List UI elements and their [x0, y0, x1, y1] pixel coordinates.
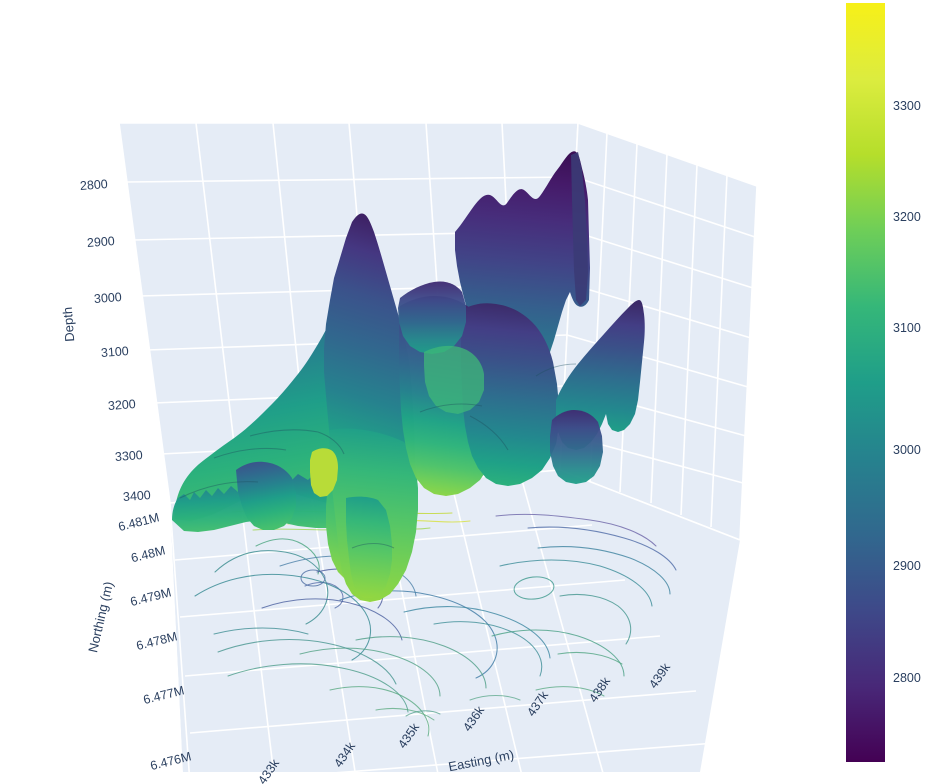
depth-tick: 2900 — [86, 234, 115, 250]
colorbar-tick: 3100 — [893, 321, 921, 335]
surface-plot-figure: 2800 2900 3000 3100 3200 3300 3400 Depth… — [0, 0, 931, 784]
colorbar-gradient[interactable] — [846, 3, 885, 762]
colorbar-tick: 2900 — [893, 559, 921, 573]
depth-tick: 3000 — [93, 290, 122, 306]
depth-tick: 3200 — [107, 397, 136, 413]
depth-tick: 3100 — [100, 344, 129, 360]
colorbar-tick: 3300 — [893, 99, 921, 113]
plot-canvas: 2800 2900 3000 3100 3200 3300 3400 Depth… — [0, 0, 931, 784]
colorbar-tick: 3200 — [893, 210, 921, 224]
colorbar-tick: 2800 — [893, 671, 921, 685]
colorbar-tick: 3000 — [893, 443, 921, 457]
depth-tick: 2800 — [79, 177, 108, 193]
depth-tick: 3400 — [122, 488, 151, 504]
depth-tick: 3300 — [114, 448, 143, 464]
depth-axis-title: Depth — [60, 306, 77, 342]
surface-right-spur-underside — [550, 410, 603, 484]
surface-back-wing — [398, 281, 466, 354]
